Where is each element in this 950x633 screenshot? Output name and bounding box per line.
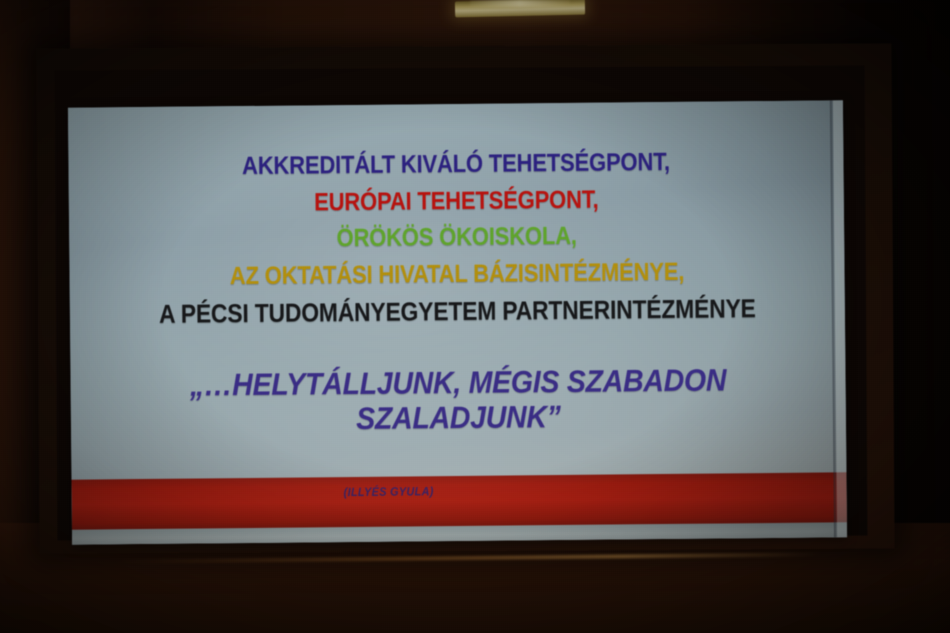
projected-slide: AKKREDITÁLT KIVÁLÓ TEHETSÉGPONT, EURÓPAI… bbox=[68, 100, 847, 544]
ceiling-light-glow bbox=[470, 0, 570, 7]
slide-quote: „…HELYTÁLLJUNK, MÉGIS SZABADON SZALADJUN… bbox=[70, 362, 846, 439]
headline-eco-school: ÖRÖKÖS ÖKOISKOLA, bbox=[116, 222, 798, 254]
slide-headline-group: AKKREDITÁLT KIVÁLÓ TEHETSÉGPONT, EURÓPAI… bbox=[68, 148, 845, 328]
headline-base-institution: AZ OKTATÁSI HIVATAL BÁZISINTÉZMÉNYE, bbox=[116, 258, 798, 290]
headline-accreditation: AKKREDITÁLT KIVÁLÓ TEHETSÉGPONT, bbox=[115, 149, 797, 181]
projection-photo: AKKREDITÁLT KIVÁLÓ TEHETSÉGPONT, EURÓPAI… bbox=[0, 0, 950, 633]
quote-line-2: SZALADJUNK” bbox=[102, 397, 815, 439]
headline-university-partner: A PÉCSI TUDOMÁNYEGYETEM PARTNERINTÉZMÉNY… bbox=[116, 295, 798, 328]
headline-european-talent-point: EURÓPAI TEHETSÉGPONT, bbox=[115, 185, 797, 217]
quote-attribution-text: (ILLYÉS GYULA) bbox=[344, 484, 434, 499]
